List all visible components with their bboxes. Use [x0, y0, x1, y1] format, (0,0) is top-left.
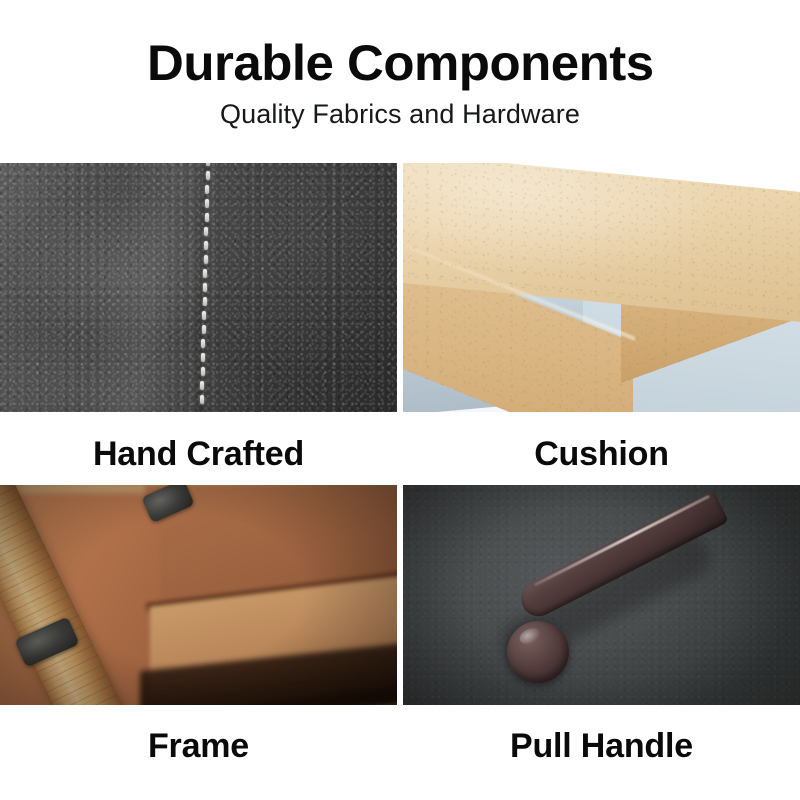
feature-cell-cushion: Cushion	[403, 163, 800, 471]
stitch-mark	[204, 227, 208, 236]
stitch-mark	[200, 381, 204, 390]
feature-cell-hand-crafted: Hand Crafted	[0, 163, 397, 471]
stitch-mark	[201, 353, 205, 362]
stitch-mark	[204, 241, 208, 250]
stitch-mark	[204, 255, 208, 264]
feature-cell-frame: Frame	[0, 485, 397, 763]
foam-block-icon	[403, 163, 800, 412]
caption-hand-crafted: Hand Crafted	[0, 412, 397, 471]
wood-frame-icon	[0, 485, 397, 705]
leather-stitch-icon	[0, 163, 397, 412]
header: Durable Components Quality Fabrics and H…	[0, 0, 800, 150]
stitched-seam	[197, 163, 213, 412]
frame-vignette	[0, 485, 397, 705]
stitch-mark	[205, 213, 209, 222]
page-subtitle: Quality Fabrics and Hardware	[220, 101, 580, 128]
stitch-mark	[206, 171, 210, 180]
stitch-mark	[202, 325, 206, 334]
stitch-mark	[203, 283, 207, 292]
caption-cushion: Cushion	[403, 412, 800, 471]
stitch-mark	[200, 395, 204, 404]
feature-cell-pull-handle: Pull Handle	[403, 485, 800, 763]
handle-vignette	[403, 485, 800, 705]
stitch-mark	[201, 367, 205, 376]
caption-frame: Frame	[0, 705, 397, 763]
infographic-page: Durable Components Quality Fabrics and H…	[0, 0, 800, 800]
stitch-mark	[201, 339, 205, 348]
pull-handle-icon	[403, 485, 800, 705]
feature-grid: Hand Crafted Cushion	[0, 163, 800, 800]
stitch-mark	[205, 185, 209, 194]
caption-pull-handle: Pull Handle	[403, 705, 800, 763]
page-title: Durable Components	[147, 38, 654, 88]
stitch-mark	[205, 199, 209, 208]
stitch-mark	[202, 311, 206, 320]
stitch-mark	[203, 297, 207, 306]
stitch-mark	[203, 269, 207, 278]
